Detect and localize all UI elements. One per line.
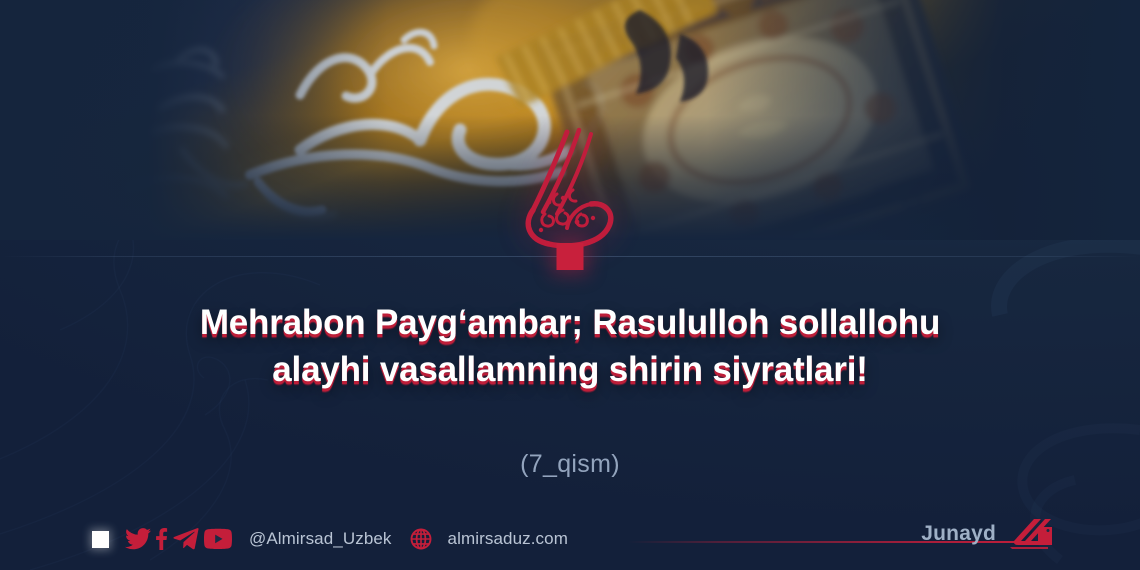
brand-logo-icon	[1008, 517, 1054, 551]
twitter-icon[interactable]	[125, 528, 151, 550]
social-icon-row	[125, 528, 232, 550]
red-square-accent	[557, 243, 584, 270]
website-url[interactable]: almirsaduz.com	[448, 529, 568, 549]
poster-canvas: Mehrabon Payg‘ambar; Rasululloh sollallo…	[0, 0, 1140, 570]
arabic-calligraphy-emblem	[505, 118, 635, 253]
title-block: Mehrabon Payg‘ambar; Rasululloh sollallo…	[0, 300, 1140, 394]
youtube-icon[interactable]	[204, 528, 232, 550]
brand-name: Junayd	[921, 523, 996, 551]
title-line-1: Mehrabon Payg‘ambar; Rasululloh sollallo…	[90, 300, 1050, 347]
footer-social-group: @Almirsad_Uzbek almirsaduz.com	[92, 528, 568, 550]
subtitle-part-number: (7_qism)	[0, 450, 1140, 479]
title-line-2: alayhi vasallamning shirin siyratlari!	[90, 347, 1050, 394]
white-square-marker	[92, 531, 109, 548]
page-title: Mehrabon Payg‘ambar; Rasululloh sollallo…	[90, 300, 1050, 394]
social-handle[interactable]: @Almirsad_Uzbek	[249, 529, 392, 549]
brand-group: Junayd	[921, 517, 1054, 551]
facebook-icon[interactable]	[155, 528, 168, 550]
globe-icon	[410, 528, 432, 550]
footer-bar: @Almirsad_Uzbek almirsaduz.com Junayd	[0, 496, 1140, 570]
telegram-icon[interactable]	[172, 528, 200, 550]
